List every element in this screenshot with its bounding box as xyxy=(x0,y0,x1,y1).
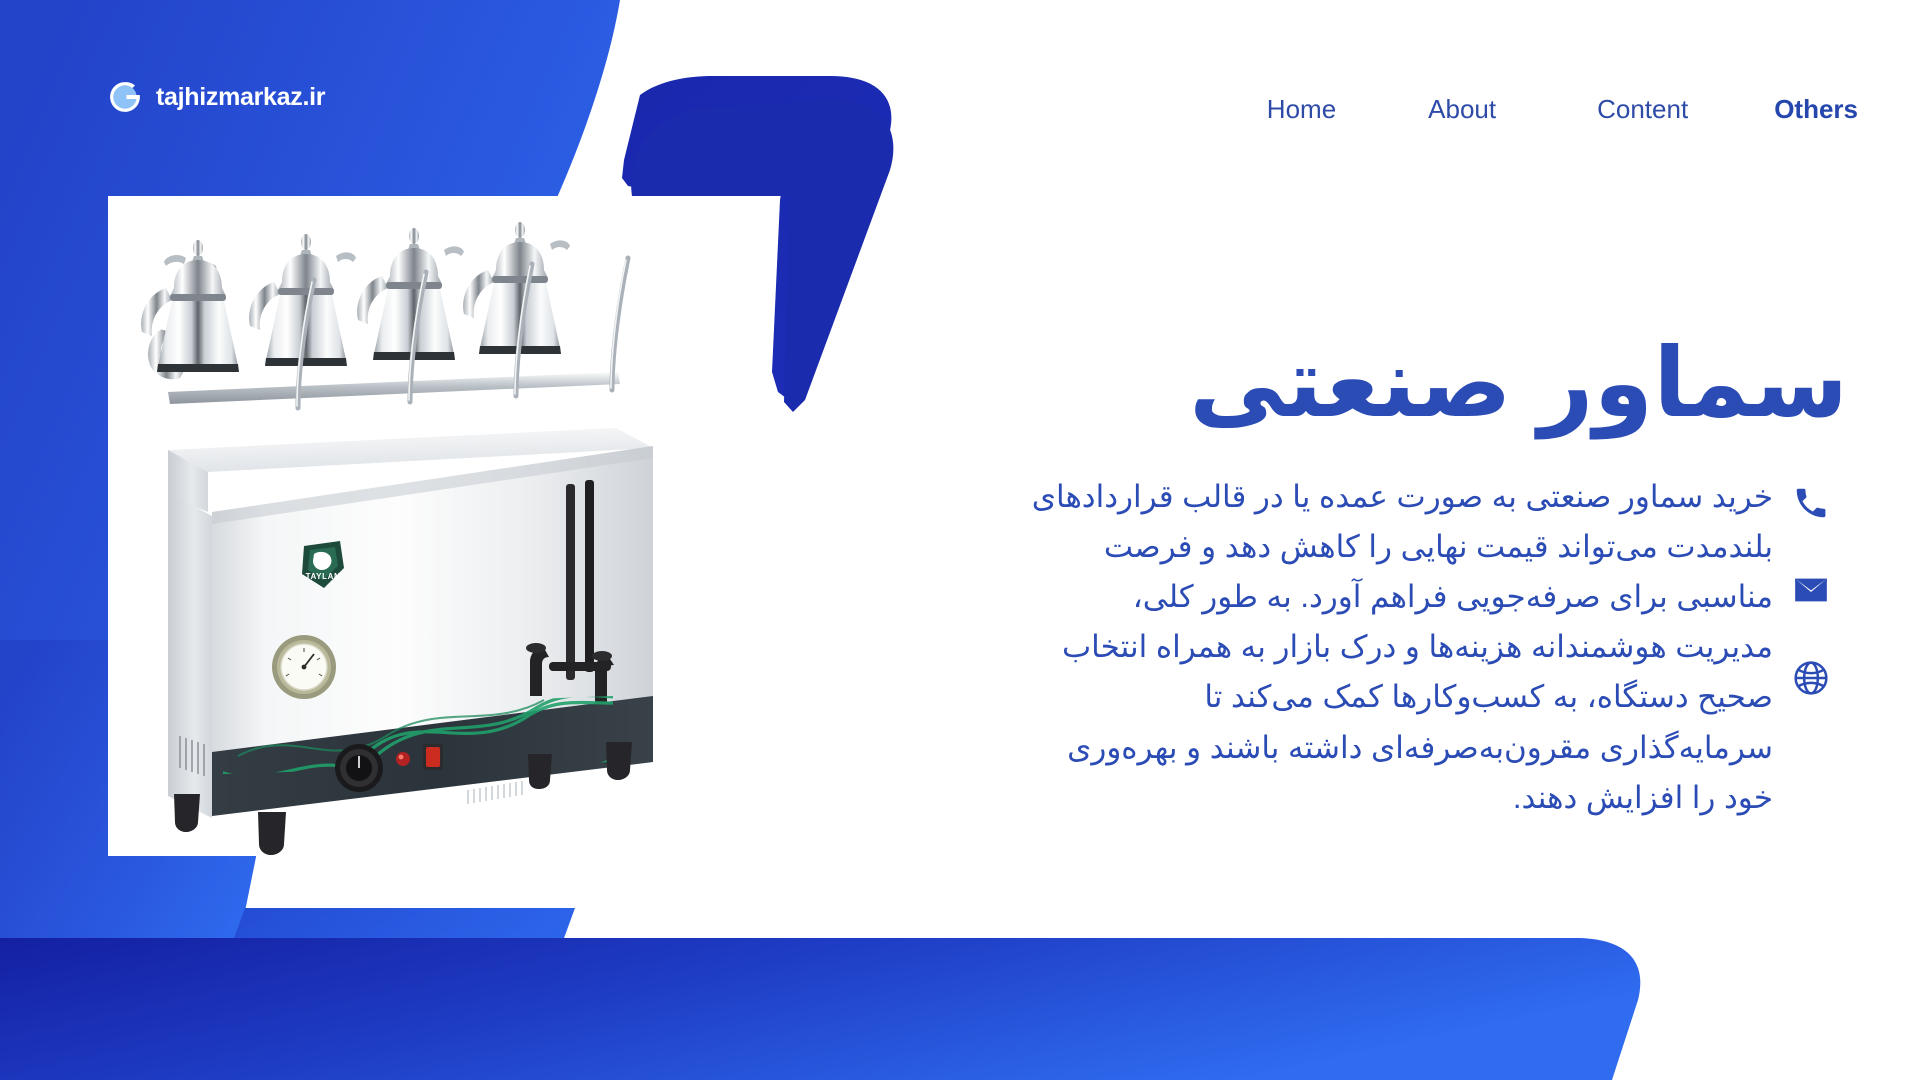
product-image-card: TAYLAN xyxy=(108,196,728,856)
brand-label: tajhizmarkaz.ir xyxy=(156,83,325,112)
brand-logo[interactable]: tajhizmarkaz.ir xyxy=(108,80,325,114)
thermometer-gauge xyxy=(272,635,336,699)
pilot-lamp xyxy=(396,752,410,766)
taylan-brand-badge: TAYLAN xyxy=(302,541,344,588)
samovar-product-image: TAYLAN xyxy=(108,196,728,856)
nav-item-content[interactable]: Content xyxy=(1595,90,1690,129)
hero-content: سماور صنعتی خرید سماور صنعتی به صورت عمد… xyxy=(1028,330,1848,823)
power-switch xyxy=(423,744,443,770)
control-knob xyxy=(335,744,383,792)
main-nav: Home About Content Others xyxy=(1265,90,1860,129)
svg-text:TAYLAN: TAYLAN xyxy=(306,572,341,581)
page-title: سماور صنعتی xyxy=(1028,330,1848,438)
globe-icon[interactable] xyxy=(1791,658,1831,698)
g-circle-logo-icon xyxy=(108,80,142,114)
site-header: tajhizmarkaz.ir Home About Content Other… xyxy=(0,0,1920,170)
hero-description: خرید سماور صنعتی به صورت عمده یا در قالب… xyxy=(1028,472,1773,824)
envelope-icon[interactable] xyxy=(1791,570,1831,610)
contact-icon-list xyxy=(1773,472,1848,698)
nav-item-home[interactable]: Home xyxy=(1265,90,1338,129)
nav-item-others[interactable]: Others xyxy=(1772,90,1860,129)
bottom-blue-bar xyxy=(0,938,1640,1080)
hero-body-row: خرید سماور صنعتی به صورت عمده یا در قالب… xyxy=(1028,472,1848,824)
nav-item-about[interactable]: About xyxy=(1426,90,1498,129)
phone-icon[interactable] xyxy=(1792,484,1830,522)
